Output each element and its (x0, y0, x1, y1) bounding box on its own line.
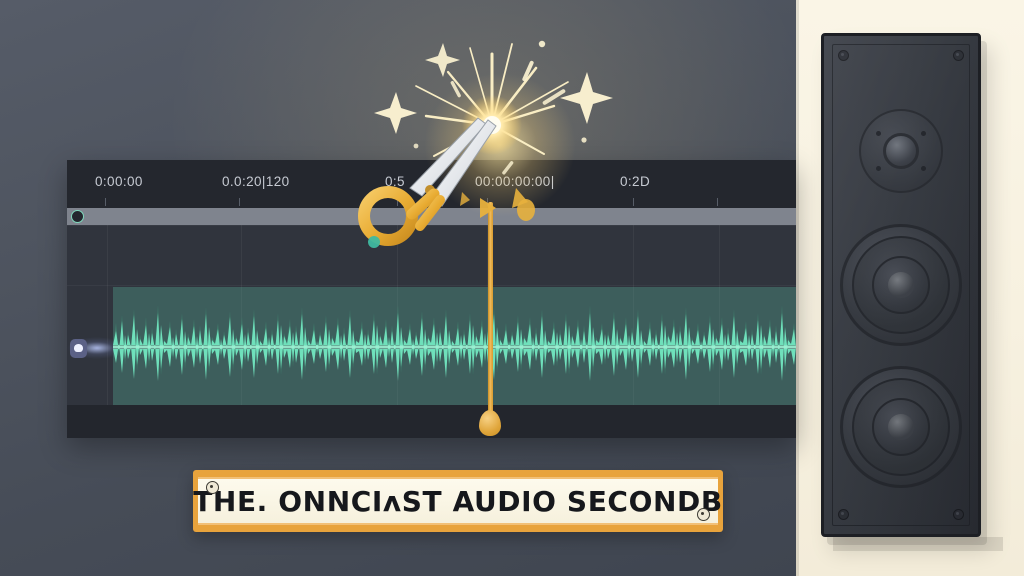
driver-screw-icon (921, 166, 926, 171)
playhead-handle[interactable] (479, 410, 501, 436)
clip-start-handle[interactable] (70, 339, 87, 358)
caption-paper: THE. ONNCIʌST AUDIO SECONDB (198, 477, 718, 525)
driver-screw-icon (921, 131, 926, 136)
screw-icon (953, 50, 964, 61)
ruler-label-2: 0:5 (385, 174, 405, 189)
screw-icon (697, 508, 710, 521)
ruler-tick (105, 198, 106, 206)
ruler-tick (239, 198, 240, 206)
speaker-shadow (833, 537, 1003, 551)
lane-divider (67, 225, 796, 226)
ruler-label-0: 0:00:00 (95, 174, 143, 189)
playhead[interactable] (488, 202, 493, 424)
woofer-dustcap (888, 414, 914, 440)
screw-icon (953, 509, 964, 520)
screw-icon (206, 481, 219, 494)
ruler-tick (397, 198, 398, 206)
audio-timeline-editor[interactable]: 0:00:00 0.0:20|120 0:5 00:00:00:00| 0:2D (67, 160, 796, 438)
driver-screw-icon (876, 166, 881, 171)
tweeter-dome (883, 133, 919, 169)
track-scrollbar[interactable] (67, 208, 796, 225)
tweeter-driver (859, 109, 943, 193)
caption-banner: THE. ONNCIʌST AUDIO SECONDB (193, 470, 723, 532)
waveform (113, 287, 796, 407)
audio-clip[interactable] (113, 287, 796, 407)
ruler-label-3: 00:00:00:00| (475, 174, 555, 189)
caption-text: THE. ONNCIʌST AUDIO SECONDB (193, 485, 723, 518)
loudspeaker (821, 33, 981, 537)
driver-screw-icon (876, 131, 881, 136)
woofer-upper-driver (840, 224, 962, 346)
screw-icon (838, 50, 849, 61)
ruler-tick (633, 198, 634, 206)
lane-divider (67, 285, 796, 286)
ruler-label-4: 0:2D (620, 174, 650, 189)
timeline-ruler[interactable]: 0:00:00 0.0:20|120 0:5 00:00:00:00| 0:2D (67, 160, 796, 208)
ruler-tick (717, 198, 718, 206)
woofer-lower-driver (840, 366, 962, 488)
scene-root: 0:00:00 0.0:20|120 0:5 00:00:00:00| 0:2D (0, 0, 1024, 576)
woofer-dustcap (888, 272, 914, 298)
track-scrollbar-knob[interactable] (71, 210, 84, 223)
ruler-label-1: 0.0:20|120 (222, 174, 290, 189)
screw-icon (838, 509, 849, 520)
editor-footer-bar (67, 405, 796, 438)
